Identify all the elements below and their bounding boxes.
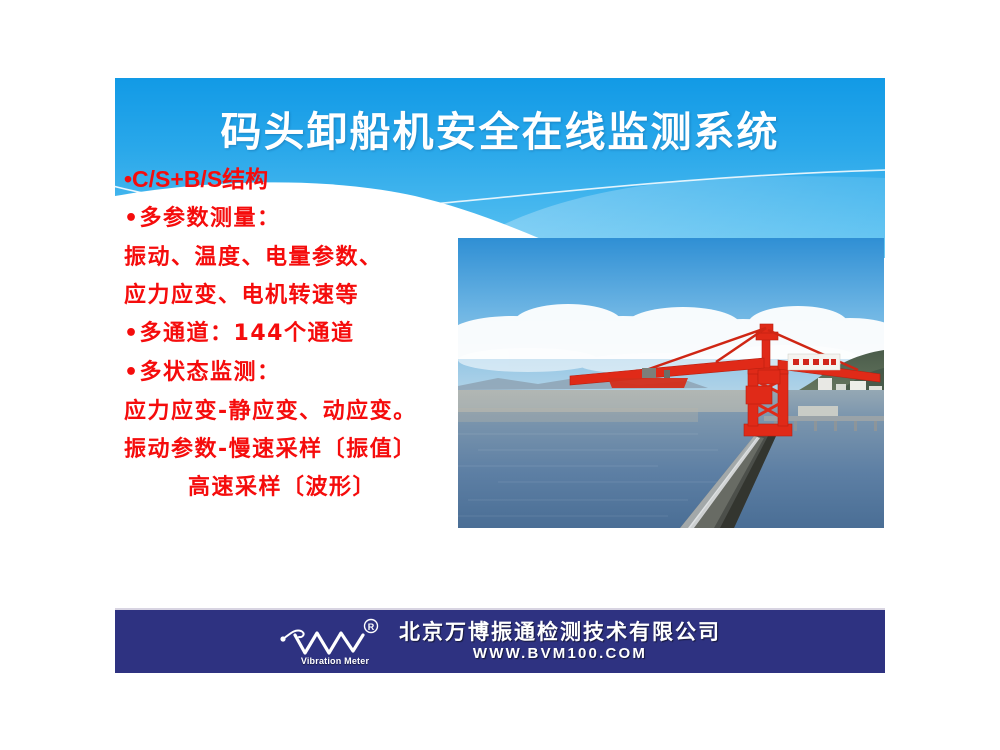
bullet-list: •C/S+B/S结构 •多参数测量： 振动、温度、电量参数、 应力应变、电机转速… [124, 168, 474, 515]
bullet-item: 应力应变、电机转速等 [124, 285, 474, 307]
bullet-item: 高速采样〔波形〕 [124, 477, 474, 499]
footer-bar: R Vibration Meter 北京万博振通检测技术有限公司 WWW.BVM… [115, 608, 885, 673]
vibration-meter-logo: R Vibration Meter [279, 617, 387, 667]
bullet-item: •C/S+B/S结构 [124, 168, 474, 191]
photo-scene [458, 238, 884, 528]
site-photograph [458, 238, 884, 528]
bullet-item: 振动、温度、电量参数、 [124, 247, 474, 269]
bullet-item: 应力应变-静应变、动应变。 [124, 401, 474, 423]
bullet-item: 振动参数-慢速采样〔振值〕 [124, 439, 474, 461]
bullet-item: •多参数测量： [124, 208, 474, 230]
presentation-slide: 码头卸船机安全在线监测系统 •C/S+B/S结构 •多参数测量： 振动、温度、电… [0, 0, 1000, 750]
svg-text:R: R [368, 622, 375, 632]
company-website[interactable]: WWW.BVM100.COM [399, 645, 721, 662]
bullet-item: •多通道：144个通道 [124, 323, 474, 345]
logo-subtitle: Vibration Meter [287, 656, 383, 666]
bullet-item: •多状态监测： [124, 362, 474, 384]
slide-title: 码头卸船机安全在线监测系统 [115, 98, 885, 158]
company-name-cn: 北京万博振通检测技术有限公司 [399, 621, 721, 643]
company-info: 北京万博振通检测技术有限公司 WWW.BVM100.COM [399, 621, 721, 661]
